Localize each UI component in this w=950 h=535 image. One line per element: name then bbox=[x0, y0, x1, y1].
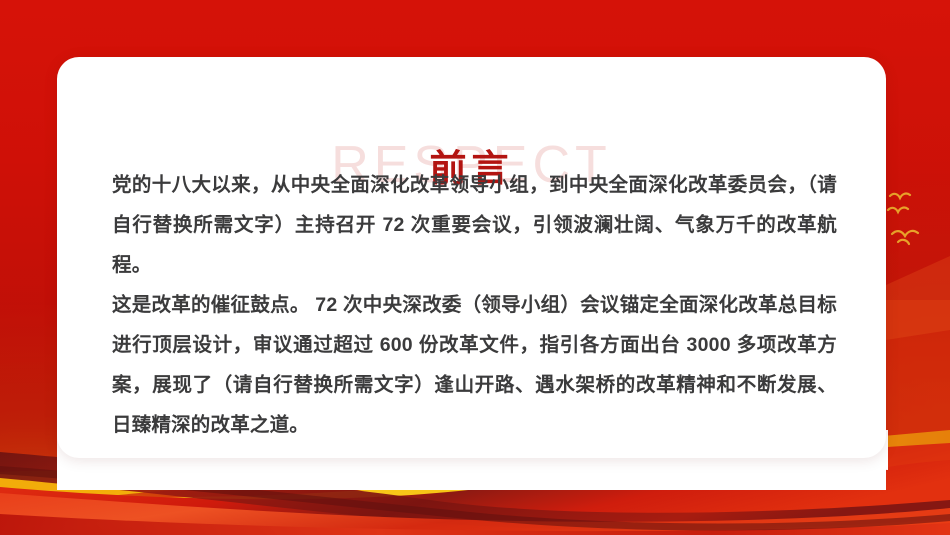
body-paragraph-2: 这是改革的催征鼓点。 72 次中央深改委（领导小组）会议锚定全面深化改革总目标进… bbox=[112, 285, 837, 445]
body-copy: 党的十八大以来，从中央全面深化改革领导小组，到中央全面深化改革委员会，（请自行替… bbox=[112, 165, 837, 445]
content-card: RESPECT 前言 党的十八大以来，从中央全面深化改革领导小组，到中央全面深化… bbox=[57, 57, 886, 458]
slide-canvas: RESPECT 前言 党的十八大以来，从中央全面深化改革领导小组，到中央全面深化… bbox=[0, 0, 950, 535]
body-paragraph-1: 党的十八大以来，从中央全面深化改革领导小组，到中央全面深化改革委员会，（请自行替… bbox=[112, 165, 837, 285]
